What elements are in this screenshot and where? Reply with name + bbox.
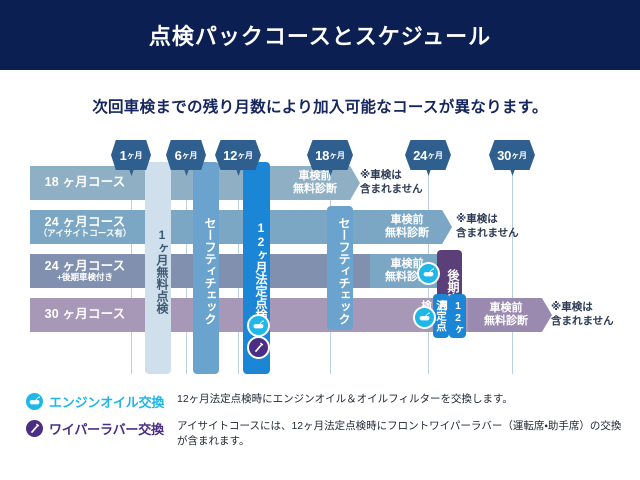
legend-item-description: 12ヶ月法定点検時にエンジンオイル＆オイルフィルターを交換します。 <box>177 392 626 407</box>
legend-item-legend-engine-oil: エンジンオイル交換12ヶ月法定点検時にエンジンオイル＆オイルフィルターを交換しま… <box>26 392 626 411</box>
course-label-c24eye[interactable]: 24 ヶ月コース（アイサイトコース有） <box>30 210 140 244</box>
marker-unit: ヶ月 <box>427 150 443 161</box>
marker-unit: ヶ月 <box>182 150 198 161</box>
timeline-marker-30mo[interactable]: 30ヶ月 <box>489 140 535 170</box>
course-label-c18[interactable]: 18 ヶ月コース <box>30 166 140 200</box>
vertical-block-label: 12ヶ月法定点検 <box>253 221 270 321</box>
course-label-line1: 30 ヶ月コース <box>45 308 126 321</box>
timeline-marker-1mo[interactable]: 1ヶ月 <box>111 140 151 170</box>
oil-can-icon <box>247 314 270 337</box>
legend-item-legend-wiper-rubber: ワイパーラバー交換アイサイトコースには、12ヶ月法定点検時にフロントワイパーラバ… <box>26 419 626 449</box>
vertical-block-vb-safety2[interactable]: セーフティチェック <box>327 206 353 330</box>
marker-number: 18 <box>315 148 329 163</box>
vertical-block-label: 12ヶ月 <box>436 300 466 338</box>
note-note-row1: ※車検は 含まれません <box>360 169 423 196</box>
schedule-chart: 18 ヶ月コース24 ヶ月コース（アイサイトコース有）24 ヶ月コース+後期車検… <box>0 138 640 383</box>
marker-unit: ヶ月 <box>237 150 253 161</box>
timeline-marker-tail <box>426 169 431 176</box>
oil-can-icon <box>413 306 436 329</box>
chip-line1: 車検前 <box>484 302 528 315</box>
legend-item-name: ワイパーラバー交換 <box>49 419 177 438</box>
chip-line2: 無料診断 <box>385 227 429 240</box>
timeline-marker-18mo[interactable]: 18ヶ月 <box>307 140 353 170</box>
chip-text: 車検前無料診断 <box>385 214 429 239</box>
chip-line2: 無料診断 <box>293 183 337 196</box>
chip-line1: 車検前 <box>385 214 429 227</box>
chip-text: 車検前無料診断 <box>484 302 528 327</box>
header-bar: 点検パックコースとスケジュール <box>0 0 640 70</box>
marker-unit: ヶ月 <box>511 150 527 161</box>
legend-item-name: エンジンオイル交換 <box>49 392 177 411</box>
timeline-marker-24mo[interactable]: 24ヶ月 <box>405 140 451 170</box>
marker-unit: ヶ月 <box>329 150 345 161</box>
note-note-row2: ※車検は 含まれません <box>456 213 519 240</box>
vertical-block-label: 1ヶ月無料点検 <box>154 228 171 314</box>
course-label-line2: （アイサイトコース有） <box>39 229 132 238</box>
legend-item-description: アイサイトコースには、12ヶ月法定点検時にフロントワイパーラバー（運転席・助手席… <box>177 419 626 449</box>
diagnosis-chip-chip-row4[interactable]: 車検前無料診断 <box>468 298 552 332</box>
course-label-line2: +後期車検付き <box>57 273 113 282</box>
diagnosis-chip-chip-row2[interactable]: 車検前無料診断 <box>370 210 452 244</box>
timeline-marker-6mo[interactable]: 6ヶ月 <box>166 140 206 170</box>
marker-unit: ヶ月 <box>127 150 143 161</box>
subtitle: 次回車検までの残り月数により加入可能なコースが異なります。 <box>0 95 640 117</box>
vertical-block-vb-safety1[interactable]: セーフティチェック <box>193 162 219 374</box>
legend: エンジンオイル交換12ヶ月法定点検時にエンジンオイル＆オイルフィルターを交換しま… <box>26 392 626 457</box>
timeline-marker-12mo[interactable]: 12ヶ月 <box>215 140 261 170</box>
course-label-line1: 18 ヶ月コース <box>45 176 126 189</box>
wiper-icon <box>26 420 43 437</box>
infographic-root: 点検パックコースとスケジュール 次回車検までの残り月数により加入可能なコースが異… <box>0 0 640 480</box>
vertical-block-label: セーフティチェック <box>336 217 353 325</box>
marker-number: 30 <box>497 148 511 163</box>
marker-number: 1 <box>120 148 127 163</box>
diagnosis-chip-chip-row1[interactable]: 車検前無料診断 <box>278 166 360 200</box>
timeline-guide-line <box>512 162 513 374</box>
wiper-icon <box>247 336 270 359</box>
vertical-block-vb-12mo-b[interactable]: 12ヶ月 <box>449 294 466 338</box>
marker-number: 6 <box>175 148 182 163</box>
vertical-block-label: セーフティチェック <box>202 217 219 325</box>
course-label-c24late[interactable]: 24 ヶ月コース+後期車検付き <box>30 254 140 288</box>
page-title: 点検パックコースとスケジュール <box>0 0 640 70</box>
marker-number: 12 <box>223 148 237 163</box>
chip-line2: 無料診断 <box>484 315 528 328</box>
timeline-marker-tail <box>510 169 515 176</box>
marker-number: 24 <box>413 148 427 163</box>
course-label-c30[interactable]: 30 ヶ月コース <box>30 298 140 332</box>
note-note-row4: ※車検は 含まれません <box>551 301 614 328</box>
oil-can-icon <box>26 393 43 410</box>
vertical-block-vb-1month[interactable]: 1ヶ月無料点検 <box>145 162 171 374</box>
oil-can-icon <box>417 262 440 285</box>
